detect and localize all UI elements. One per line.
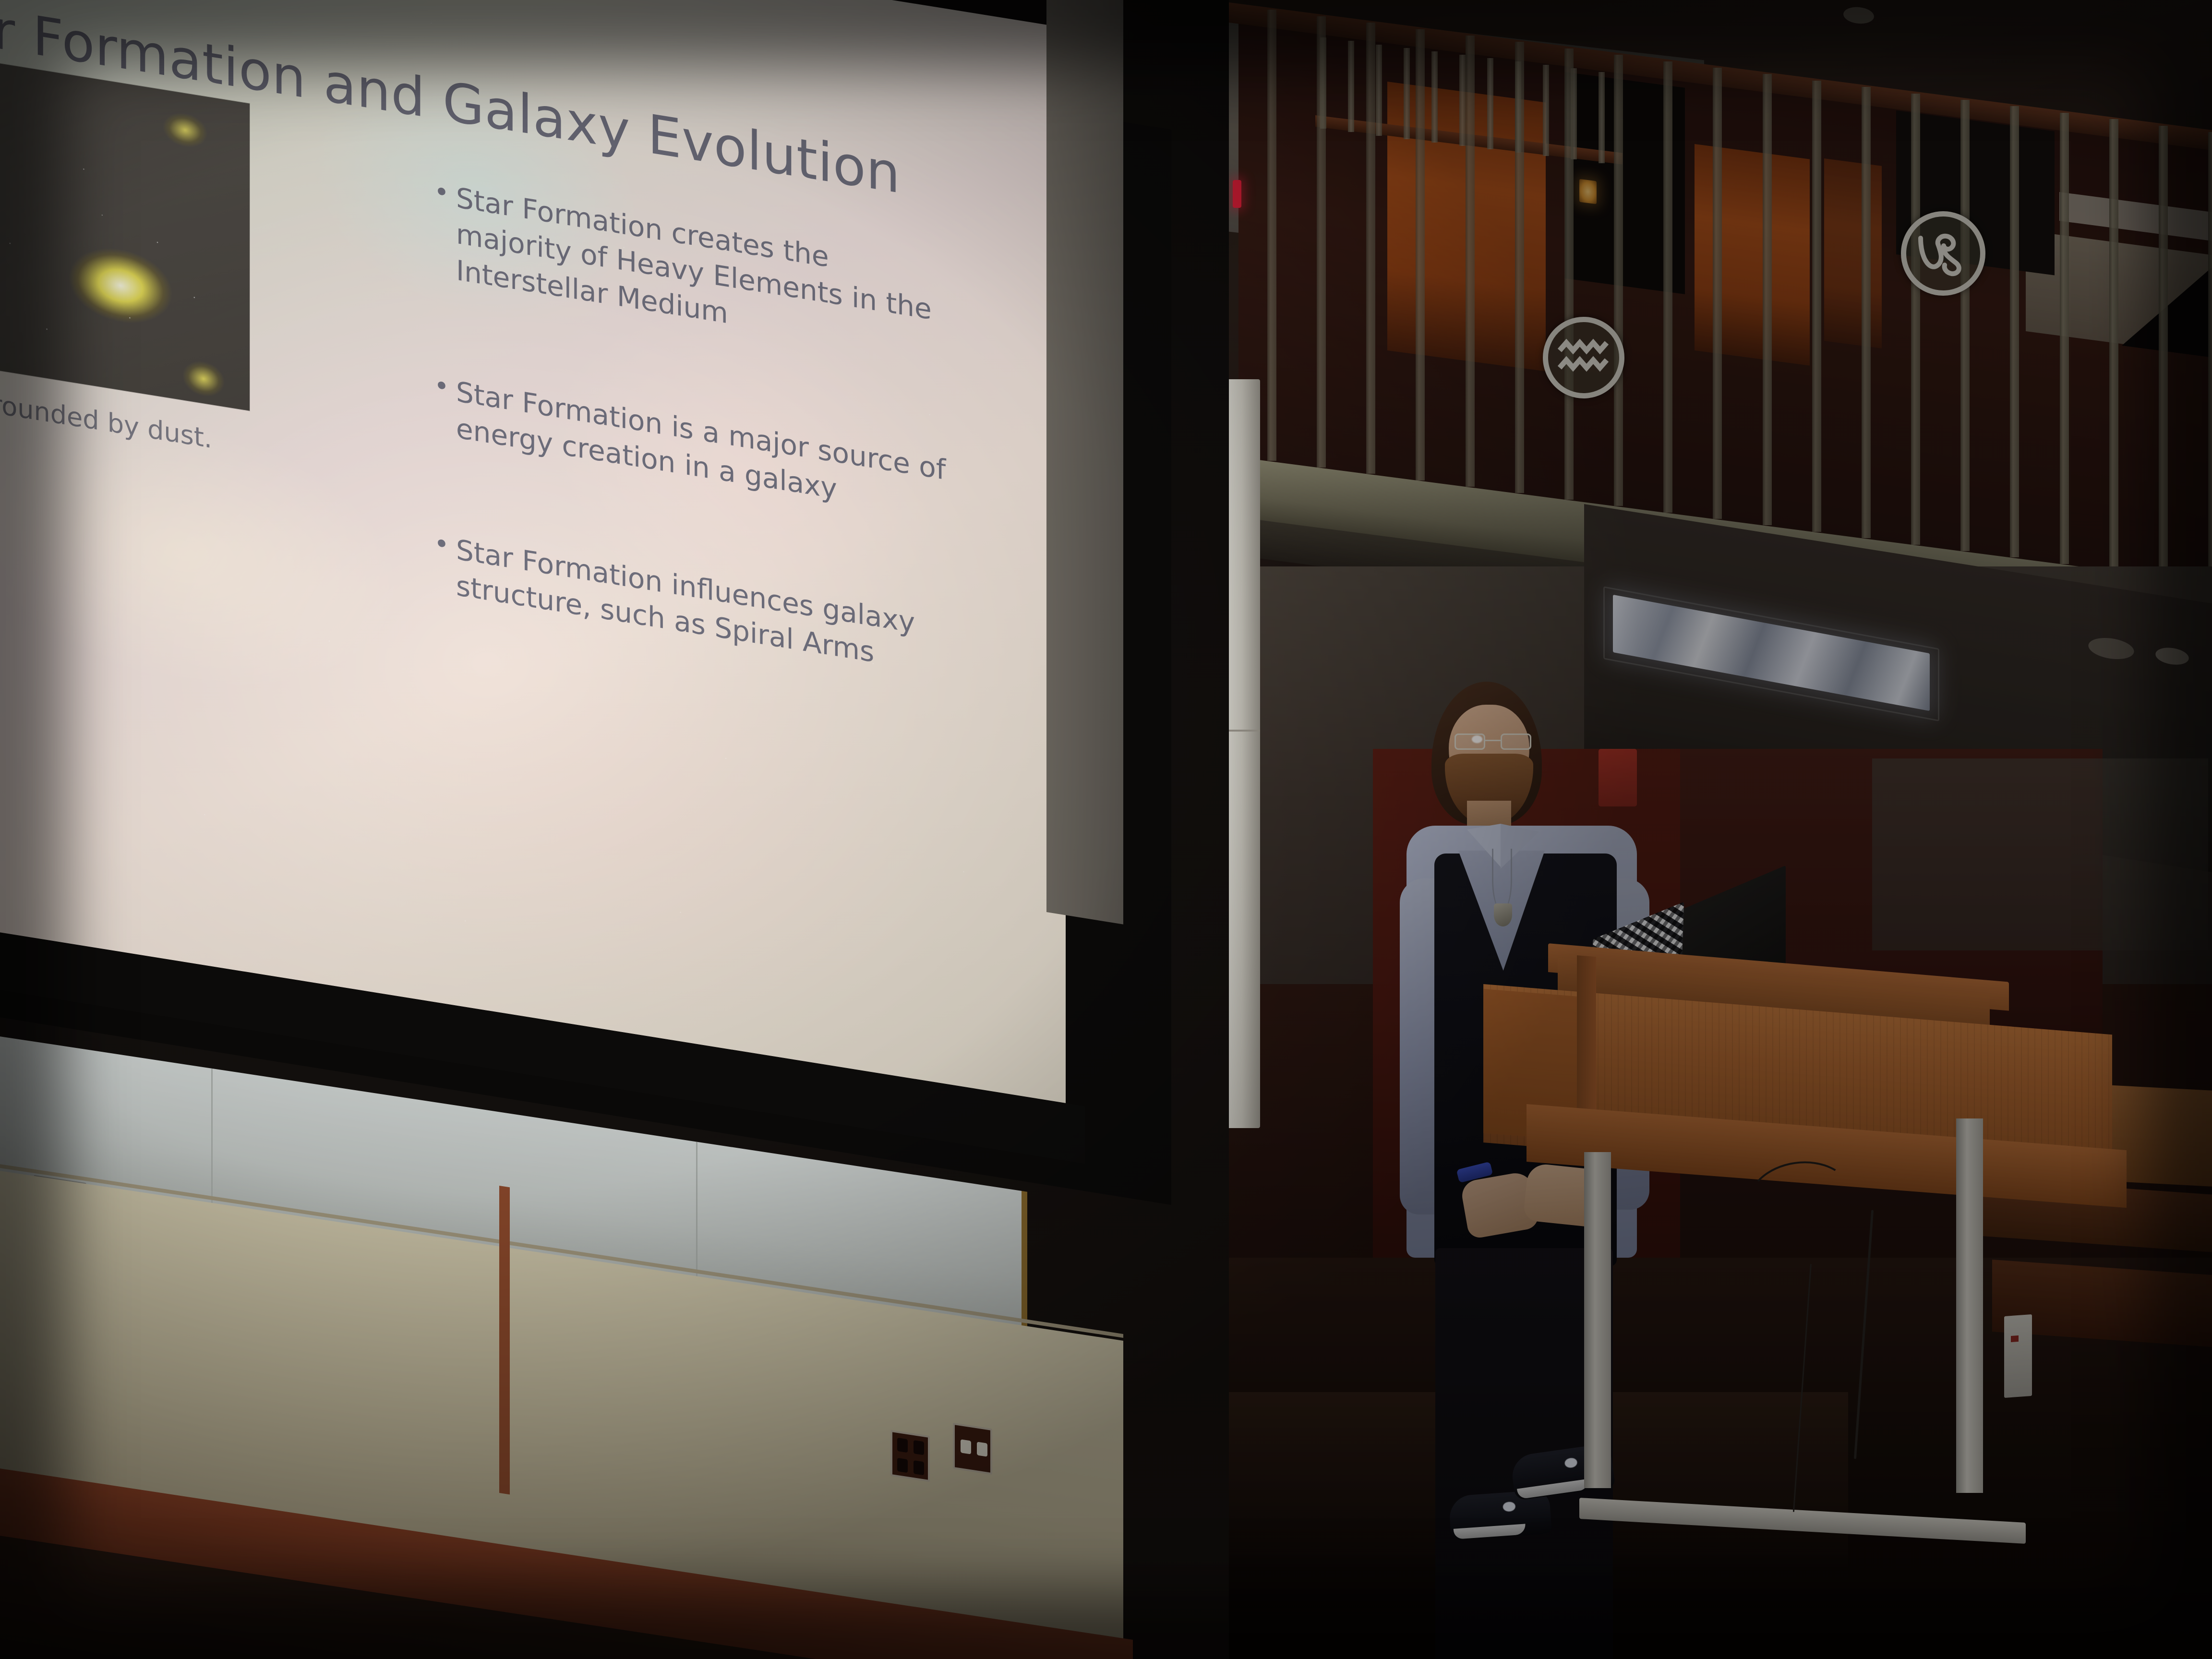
necklace-chain	[1492, 849, 1512, 911]
pendant-icon	[1494, 903, 1512, 926]
baluster	[1317, 16, 1326, 468]
baluster	[1862, 87, 1871, 538]
lectern-label	[2004, 1314, 2032, 1398]
aquarius-icon	[1557, 338, 1611, 377]
baluster	[1416, 29, 1425, 481]
rear-baluster	[1376, 45, 1382, 136]
baluster	[1466, 36, 1475, 487]
baluster	[1960, 100, 1970, 551]
baluster	[1267, 10, 1276, 461]
baluster	[1614, 55, 1623, 506]
exit-sign-led-icon	[1233, 180, 1241, 208]
baluster	[1366, 23, 1375, 474]
glasses-glint	[1472, 735, 1482, 743]
wall-panel	[1872, 758, 2208, 950]
screen-right-edge	[1046, 0, 1123, 925]
lecture-hall-scene: Star Formation and Galaxy Evolution Youn…	[0, 0, 2212, 1659]
wall-panel-seam	[499, 1186, 510, 1494]
baluster	[1713, 68, 1722, 519]
projection-screen	[0, 0, 1066, 1103]
balcony-banner	[1824, 158, 1882, 349]
baluster	[1812, 81, 1821, 532]
baluster	[1763, 74, 1772, 525]
baluster	[2159, 126, 2168, 577]
baluster	[1911, 94, 1920, 545]
eyeglasses-icon	[1455, 733, 1531, 750]
capricorn-icon	[1915, 228, 1972, 278]
power-outlet-duplex-dark[interactable]	[890, 1430, 930, 1482]
whiteboard-seam	[696, 1142, 697, 1286]
rear-baluster	[1404, 48, 1410, 139]
rear-baluster	[1599, 72, 1605, 163]
whiteboard-seam	[211, 1069, 213, 1213]
baluster	[2208, 132, 2212, 583]
rear-baluster	[1487, 58, 1493, 149]
baluster	[1564, 48, 1574, 500]
rear-baluster	[1543, 65, 1549, 156]
zodiac-medallion-aquarius	[1543, 317, 1624, 398]
power-outlet-duplex-white[interactable]	[953, 1423, 992, 1475]
rear-baluster	[1459, 55, 1466, 146]
rear-baluster	[1348, 41, 1354, 132]
zodiac-medallion-capricorn	[1901, 211, 1985, 296]
lectern-divider	[1577, 955, 1596, 1120]
lectern-leg-right	[1956, 1118, 1983, 1493]
amber-accent-lamp-icon	[1579, 179, 1597, 204]
baluster	[2109, 119, 2118, 570]
baluster	[1663, 61, 1672, 513]
baluster	[2060, 113, 2069, 564]
baluster	[2010, 106, 2019, 557]
lectern-leg-left	[1584, 1152, 1611, 1488]
balcony-banner	[1695, 144, 1810, 366]
rear-baluster	[1431, 51, 1438, 143]
baluster	[1515, 42, 1524, 493]
